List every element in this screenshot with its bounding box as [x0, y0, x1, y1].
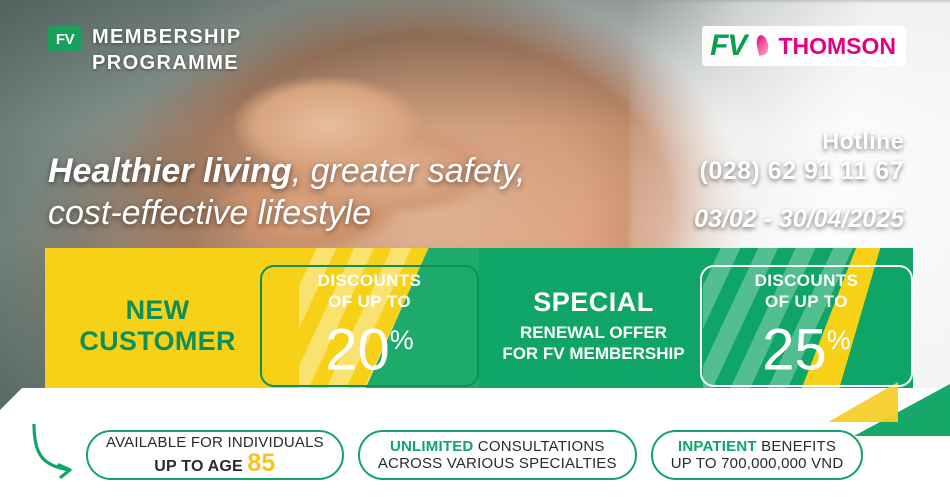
fv-badge-icon: FV [48, 26, 82, 52]
new-customer-label: NEW CUSTOMER [45, 295, 260, 357]
headline-line-2: cost-effective lifestyle [48, 194, 371, 232]
discount-value-renewal: 25 [762, 318, 827, 383]
discount-box-new: DISCOUNTS OF UP TO 20% [260, 265, 479, 387]
pill-unlimited-consultations[interactable]: UNLIMITED CONSULTATIONS ACROSS VARIOUS S… [358, 430, 637, 480]
new-customer-line-2: CUSTOMER [55, 326, 260, 357]
pill-1-line-1: AVAILABLE FOR INDIVIDUALS [106, 434, 324, 451]
fv-logo-text: FV [710, 31, 746, 61]
discount-percent-renewal: 25% [762, 310, 851, 380]
curved-arrow-icon [26, 420, 88, 482]
pill-2-highlight: UNLIMITED [390, 438, 473, 455]
pill-3-line-2: UP TO 700,000,000 VND [671, 455, 844, 472]
page-title: Healthier living, greater safety, cost-e… [48, 150, 648, 234]
new-customer-line-1: NEW [55, 295, 260, 326]
thomson-logo-text: THOMSON [778, 34, 896, 58]
discount-line-1: DISCOUNTS [318, 270, 422, 291]
discount-box-renewal: DISCOUNTS OF UP TO 25% [700, 265, 913, 387]
pink-leaf-icon [752, 33, 772, 59]
membership-programme-logo: FV MEMBERSHIP PROGRAMME [48, 24, 242, 76]
offer-renewal: SPECIAL RENEWAL OFFER FOR FV MEMBERSHIP … [479, 248, 913, 403]
pill-3-line-1: INPATIENT BENEFITS [678, 438, 836, 455]
pill-age-eligibility[interactable]: AVAILABLE FOR INDIVIDUALS UP TO AGE 85 [86, 430, 344, 480]
pill-1-age-value: 85 [247, 449, 275, 477]
pill-1-line-2: UP TO AGE 85 [154, 451, 275, 476]
fv-thomson-logo: FV THOMSON [702, 26, 906, 66]
pill-2-rest: CONSULTATIONS [473, 438, 604, 455]
pill-1-prefix: UP TO AGE [154, 458, 243, 475]
percent-symbol: % [390, 325, 414, 355]
special-line-2: RENEWAL OFFER [487, 322, 700, 343]
membership-line-1: MEMBERSHIP [92, 24, 242, 50]
special-renewal-label: SPECIAL RENEWAL OFFER FOR FV MEMBERSHIP [479, 287, 700, 364]
discount-value: 20 [325, 318, 390, 383]
headline-rest: , greater safety, [292, 152, 526, 190]
special-line-3: FOR FV MEMBERSHIP [487, 343, 700, 364]
pill-3-rest: BENEFITS [757, 438, 836, 455]
membership-line-2: PROGRAMME [92, 50, 242, 76]
offer-band: NEW CUSTOMER DISCOUNTS OF UP TO 20% SPEC… [45, 248, 913, 403]
hotline-label: Hotline [700, 128, 905, 155]
discount-line-2-renewal: OF UP TO [765, 291, 848, 312]
pill-inpatient-benefits[interactable]: INPATIENT BENEFITS UP TO 700,000,000 VND [651, 430, 864, 480]
pill-2-line-2: ACROSS VARIOUS SPECIALTIES [378, 455, 617, 472]
headline-bold: Healthier living [48, 152, 292, 190]
pill-3-highlight: INPATIENT [678, 438, 757, 455]
pill-2-line-1: UNLIMITED CONSULTATIONS [390, 438, 605, 455]
percent-symbol-renewal: % [827, 325, 851, 355]
discount-line-1-renewal: DISCOUNTS [755, 270, 859, 291]
hotline-block: Hotline (028) 62 91 11 67 [700, 128, 905, 186]
special-line-1: SPECIAL [487, 287, 700, 318]
promo-banner: FV MEMBERSHIP PROGRAMME FV THOMSON Healt… [0, 0, 950, 500]
membership-programme-text: MEMBERSHIP PROGRAMME [92, 24, 242, 76]
discount-percent-new: 20% [325, 310, 414, 380]
offer-new-customer: NEW CUSTOMER DISCOUNTS OF UP TO 20% [45, 248, 479, 403]
benefit-pill-list: AVAILABLE FOR INDIVIDUALS UP TO AGE 85 U… [86, 430, 863, 480]
hotline-number[interactable]: (028) 62 91 11 67 [700, 157, 905, 186]
promo-date-range: 03/02 - 30/04/2025 [694, 205, 904, 234]
discount-line-2: OF UP TO [328, 291, 411, 312]
